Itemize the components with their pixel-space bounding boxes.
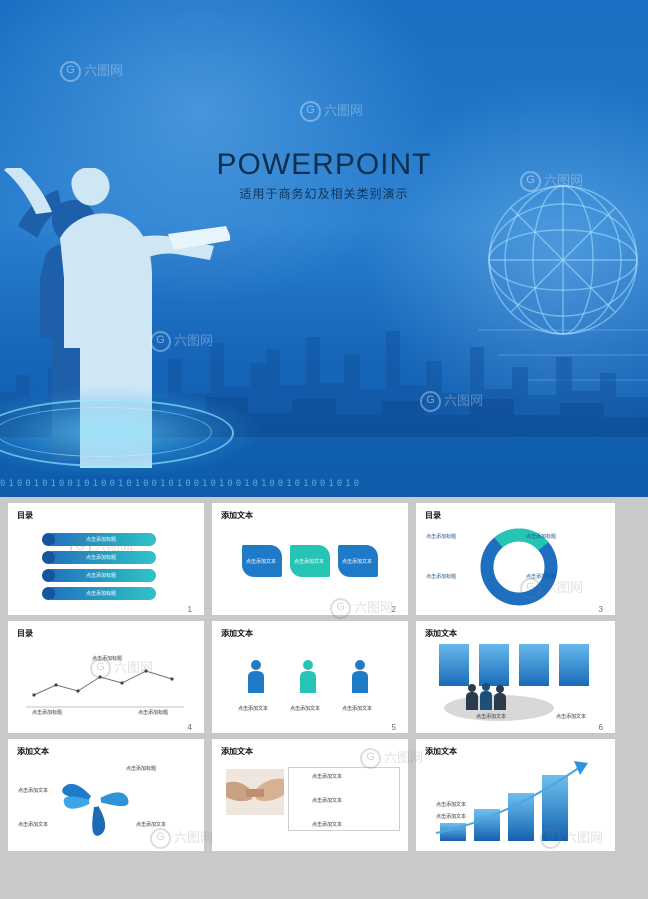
people-group-icon bbox=[464, 683, 512, 711]
slide-thumbnail-5[interactable]: 添加文本 点击添加文本 点击添加文本 点击添加文本 bbox=[212, 621, 408, 733]
thumbnail-row: 添加文本 点击添加文本 点击添加标题 点击添加文本 点击添加文本 添加文本 bbox=[0, 733, 648, 851]
slide-thumbnail-2[interactable]: 添加文本 点击添加文本 点击添加文本 点击添加文本 bbox=[212, 503, 408, 615]
slide-thumbnail-4[interactable]: 目录 点击添加标题 点击添加标题 点击添加标题 bbox=[8, 621, 204, 733]
thumbnail-row: 目录 点击添加标题 点击添加标题 点击添加标题 点击添加标题 1 添加文本 bbox=[0, 497, 648, 615]
bullet-dot bbox=[42, 533, 55, 546]
slide-item-label: 点击添加文本 bbox=[436, 813, 466, 820]
slide-thumbnail-grid: 目录 点击添加标题 点击添加标题 点击添加标题 点击添加标题 1 添加文本 bbox=[0, 497, 648, 899]
handshake-photo bbox=[226, 769, 284, 815]
slide-title: 添加文本 bbox=[17, 746, 49, 757]
slide-thumbnail-1[interactable]: 目录 点击添加标题 点击添加标题 点击添加标题 点击添加标题 bbox=[8, 503, 204, 615]
slide-item-label: 点击添加文本 bbox=[342, 705, 372, 712]
slide-item-label: 点击添加文本 bbox=[18, 821, 48, 828]
bullet-dot bbox=[42, 587, 55, 600]
person-icon bbox=[298, 659, 318, 695]
growth-arrow bbox=[430, 759, 610, 839]
slide-title: 添加文本 bbox=[221, 510, 253, 521]
panel bbox=[478, 643, 510, 687]
slide-thumbnail-8[interactable]: 添加文本 点击添加文本 点击添加文本 点击添加文本 bbox=[212, 739, 408, 851]
slide-item-label: 点击添加标题 bbox=[126, 765, 156, 772]
slide-item-label: 点击添加文本 bbox=[436, 801, 466, 808]
slide-item-label: 点击添加文本 bbox=[294, 558, 324, 565]
slide-item-label: 点击添加文本 bbox=[556, 713, 586, 720]
bullet-dot bbox=[42, 551, 55, 564]
slide-item-label: 点击添加标题 bbox=[426, 533, 456, 540]
thumbnail-cell[interactable]: 添加文本 点击添加文本 点击添加文本 点击添加文本 5 bbox=[204, 615, 408, 733]
panel bbox=[558, 643, 590, 687]
slide-thumbnail-9[interactable]: 添加文本 点击添加文本 点击添加文本 bbox=[416, 739, 615, 851]
slide-item-label: 点击添加文本 bbox=[246, 558, 276, 565]
pinwheel-diagram bbox=[58, 765, 132, 837]
person-icon bbox=[246, 659, 266, 695]
slide-title: 添加文本 bbox=[221, 746, 253, 757]
slide-thumbnail-3[interactable]: 目录 点击添加标题 点击添加标题 点击添加标题 点击添加标题 bbox=[416, 503, 615, 615]
slide-thumbnail-7[interactable]: 添加文本 点击添加文本 点击添加标题 点击添加文本 点击添加文本 bbox=[8, 739, 204, 851]
slide-title: 添加文本 bbox=[425, 746, 457, 757]
slide-item-label: 点击添加标题 bbox=[526, 573, 556, 580]
slide-title: 目录 bbox=[17, 628, 33, 639]
bullet-dot bbox=[42, 569, 55, 582]
slide-item-label: 点击添加文本 bbox=[136, 821, 166, 828]
thumbnail-cell[interactable]: 添加文本 点击添加文本 点击添加文本 6 bbox=[408, 615, 615, 733]
slide-item-label: 点击添加标题 bbox=[86, 572, 116, 579]
slide-item-label: 点击添加标题 bbox=[86, 536, 116, 543]
binary-digits: 0100101001010010100101001010010100101001… bbox=[0, 479, 360, 489]
slide-number: 1 bbox=[188, 605, 192, 614]
slide-title: 目录 bbox=[17, 510, 33, 521]
hero-banner: 0100101001010010100101001010010100101001… bbox=[0, 0, 648, 497]
slide-number: 3 bbox=[599, 605, 603, 614]
slide-item-label: 点击添加文本 bbox=[18, 787, 48, 794]
slide-item-label: 点击添加标题 bbox=[32, 709, 62, 716]
slide-item-label: 点击添加文本 bbox=[342, 558, 372, 565]
slide-thumbnail-6[interactable]: 添加文本 点击添加文本 点击添加文本 bbox=[416, 621, 615, 733]
text-frame bbox=[288, 767, 400, 831]
slide-item-label: 点击添加标题 bbox=[138, 709, 168, 716]
slide-item-label: 点击添加文本 bbox=[290, 705, 320, 712]
slide-item-label: 点击添加标题 bbox=[86, 554, 116, 561]
slide-number: 5 bbox=[392, 723, 396, 732]
slide-number: 4 bbox=[188, 723, 192, 732]
line-chart bbox=[26, 659, 186, 711]
thumbnail-row: 目录 点击添加标题 点击添加标题 点击添加标题 4 添加文本 bbox=[0, 615, 648, 733]
thumbnail-cell[interactable]: 添加文本 点击添加文本 点击添加文本 bbox=[408, 733, 615, 851]
slide-number: 6 bbox=[599, 723, 603, 732]
slide-item-label: 点击添加文本 bbox=[476, 713, 506, 720]
slide-item-label: 点击添加标题 bbox=[526, 533, 556, 540]
slide-title: 目录 bbox=[425, 510, 441, 521]
slide-item-label: 点击添加标题 bbox=[426, 573, 456, 580]
thumbnail-cell[interactable]: 添加文本 点击添加文本 点击添加文本 点击添加文本 2 bbox=[204, 497, 408, 615]
slide-number: 2 bbox=[392, 605, 396, 614]
thumbnail-cell[interactable]: 添加文本 点击添加文本 点击添加标题 点击添加文本 点击添加文本 bbox=[0, 733, 204, 851]
panel bbox=[438, 643, 470, 687]
slide-item-label: 点击添加文本 bbox=[238, 705, 268, 712]
thumbnail-cell[interactable]: 添加文本 点击添加文本 点击添加文本 点击添加文本 bbox=[204, 733, 408, 851]
slide-title: 添加文本 bbox=[221, 628, 253, 639]
slide-item-label: 点击添加标题 bbox=[86, 590, 116, 597]
ground-ring-inner bbox=[0, 407, 212, 457]
slide-title: 添加文本 bbox=[425, 628, 457, 639]
hero-title: POWERPOINT bbox=[0, 148, 648, 182]
hero-subtitle: 适用于商务幻及相关类别演示 bbox=[0, 185, 648, 202]
thumbnail-cell[interactable]: 目录 点击添加标题 点击添加标题 点击添加标题 点击添加标题 3 bbox=[408, 497, 615, 615]
thumbnail-cell[interactable]: 目录 点击添加标题 点击添加标题 点击添加标题 4 bbox=[0, 615, 204, 733]
donut-diagram bbox=[464, 527, 574, 607]
thumbnail-cell[interactable]: 目录 点击添加标题 点击添加标题 点击添加标题 点击添加标题 1 bbox=[0, 497, 204, 615]
panel bbox=[518, 643, 550, 687]
slide-item-label: 点击添加标题 bbox=[92, 655, 122, 662]
person-icon bbox=[350, 659, 370, 695]
